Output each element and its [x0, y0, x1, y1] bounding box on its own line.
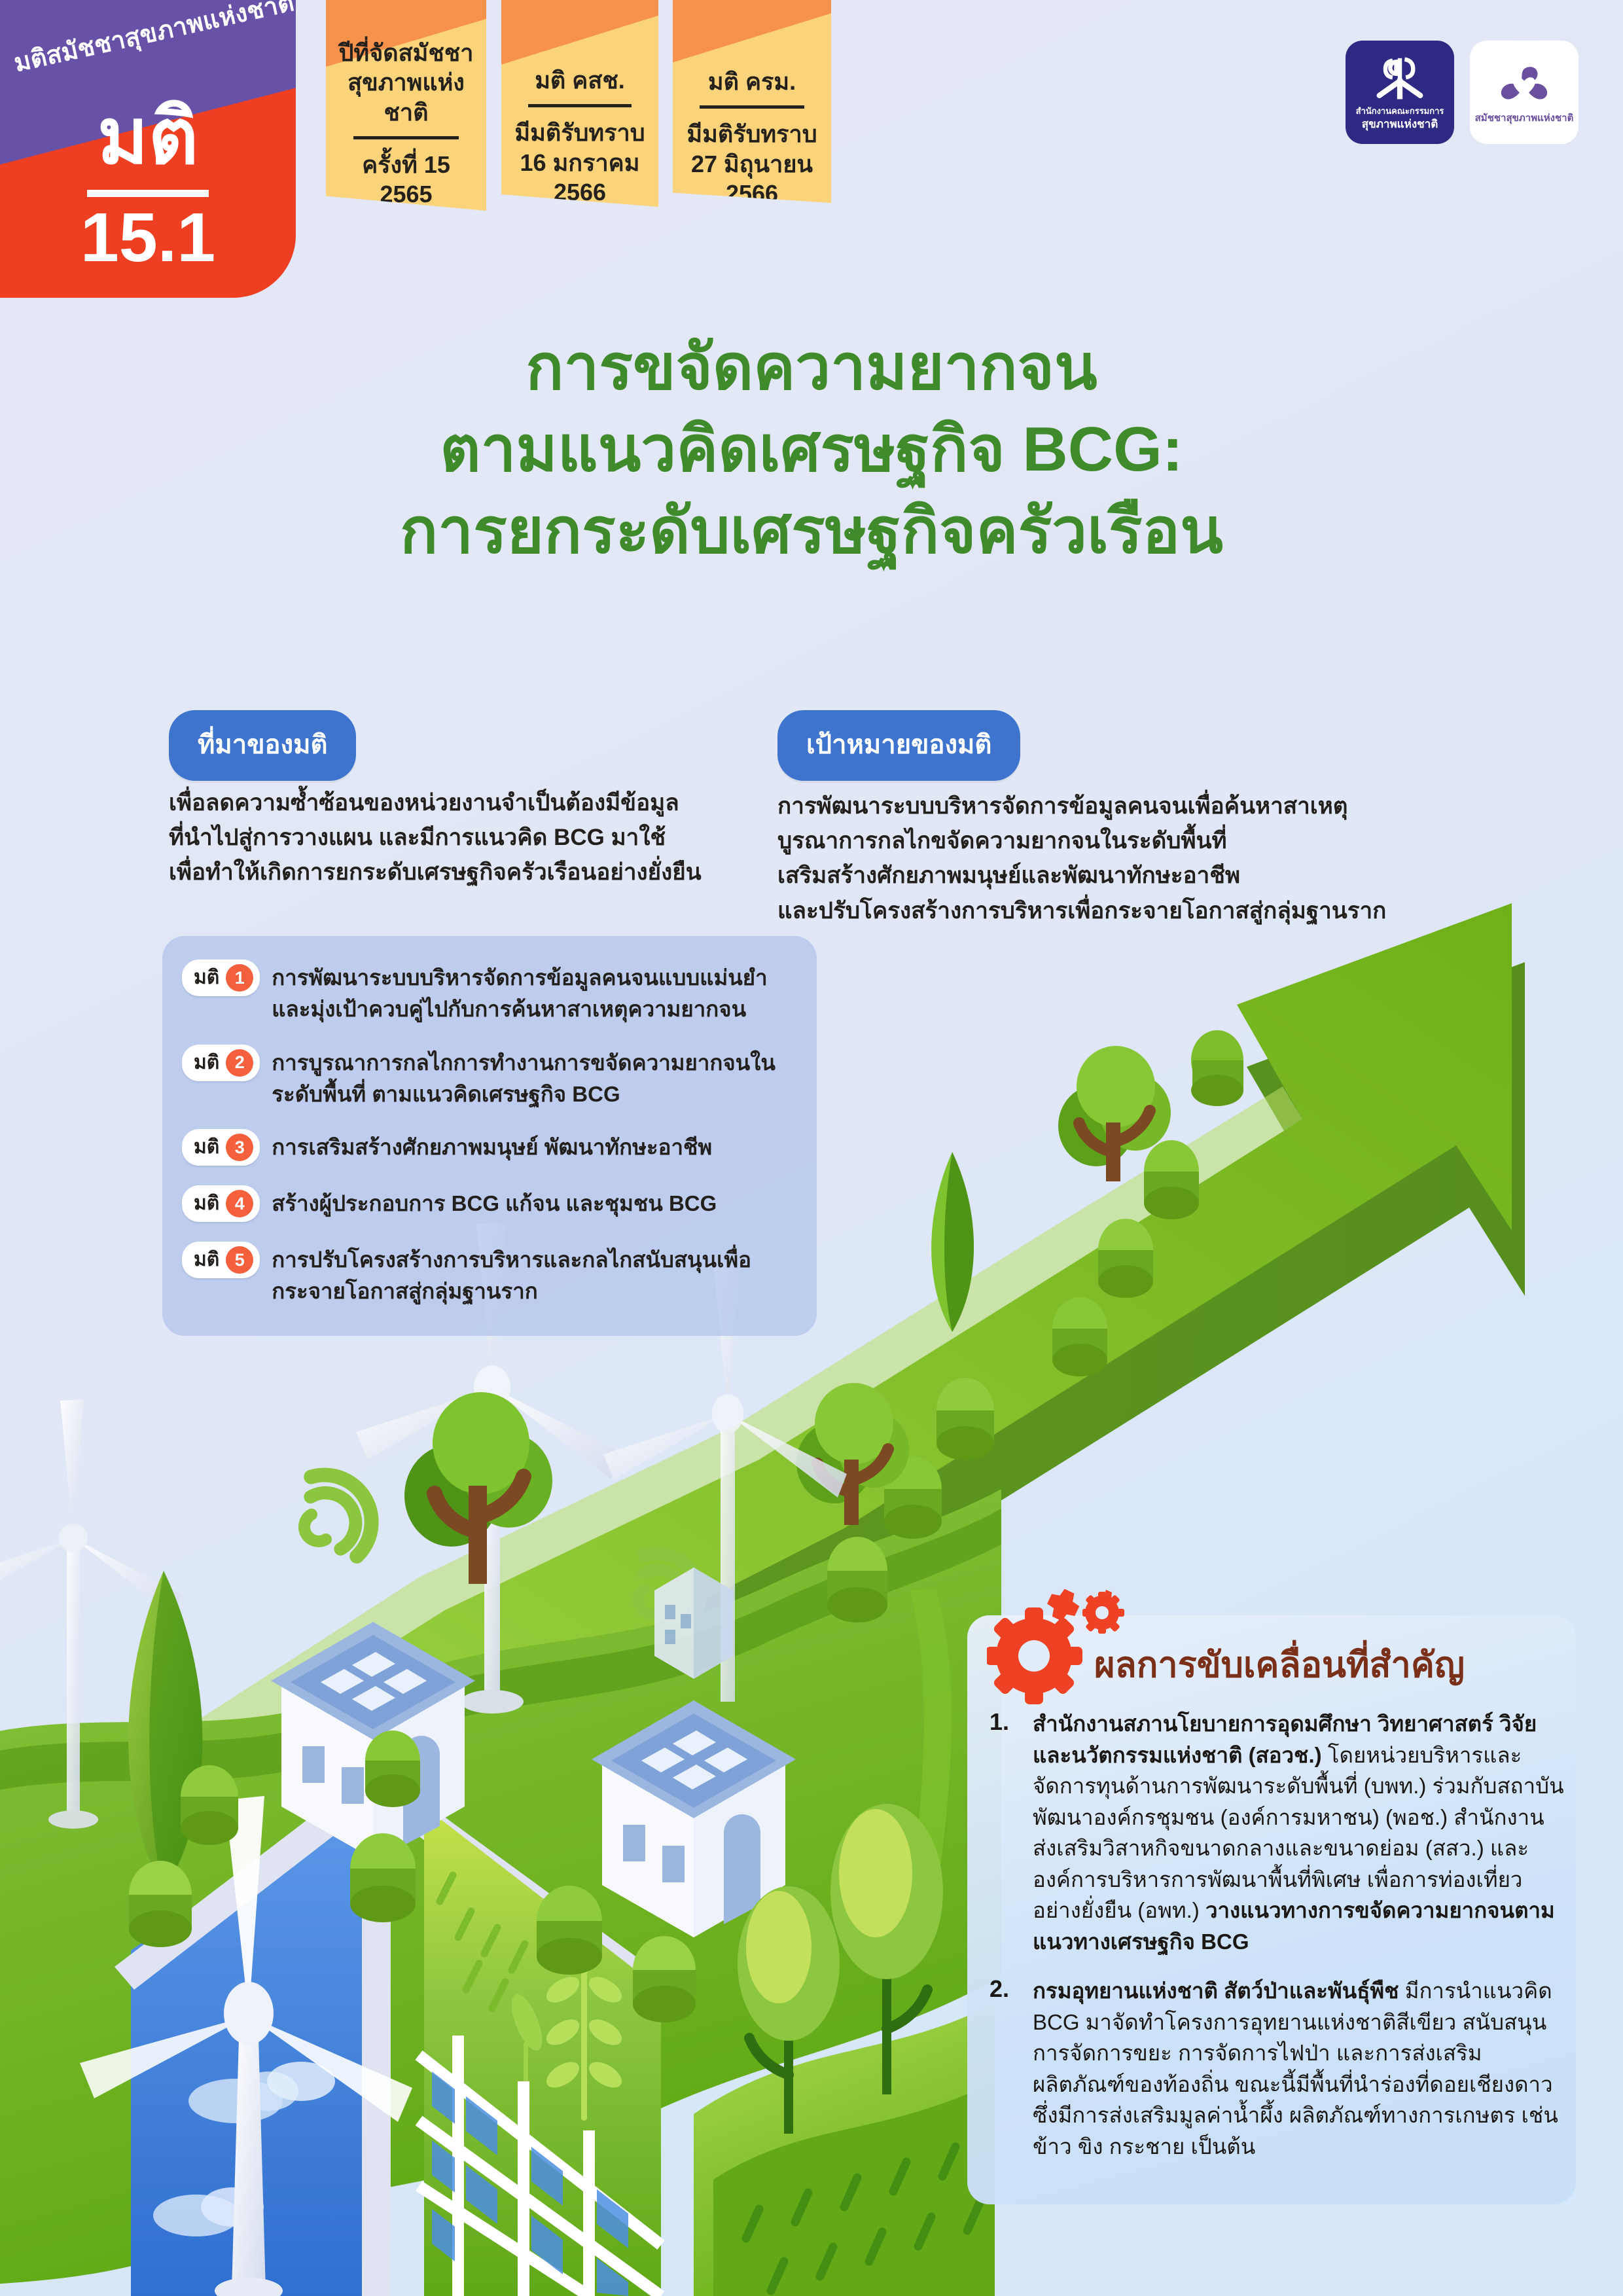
resolution-badge-label: มติ	[194, 968, 219, 988]
three-hands-heart-icon	[1494, 60, 1554, 111]
card-title-line1: มติ คสช.	[512, 65, 648, 95]
resolution-text: การพัฒนาระบบบริหารจัดการข้อมูลคนจนแบบแม่…	[272, 960, 794, 1025]
list-item: มติ 2 การบูรณาการกลไกการทำงานการขจัดความ…	[182, 1045, 794, 1110]
resolution-badge: มติ 1	[182, 960, 260, 996]
source-line-3: เพื่อทำให้เกิดการยกระดับเศรษฐกิจครัวเรือ…	[169, 855, 738, 889]
source-description: เพื่อลดความซ้ำซ้อนของหน่วยงานจำเป็นต้องม…	[169, 785, 738, 890]
meta-card-nhcb-resolution: มติ คสช. มีมติรับทราบ 16 มกราคม 2566	[501, 0, 658, 207]
card-title-line1: ปีที่จัดสมัชชา	[336, 38, 476, 67]
trees-on-arrow	[796, 1030, 1243, 1623]
result-number: 1.	[990, 1708, 1018, 1957]
foreground-trees	[128, 1392, 943, 2134]
card-title-line2: สุขภาพแห่งชาติ	[336, 67, 476, 127]
moti-corner-badge: มติสมัชชาสุขภาพแห่งชาติ มติ 15.1	[0, 0, 296, 298]
resolution-text: การปรับโครงสร้างการบริหารและกลไกสนับสนุน…	[272, 1242, 794, 1307]
goal-line-2: บูรณาการกลไกขจัดความยากจนในระดับพื้นที่	[777, 823, 1458, 858]
resolution-text: สร้างผู้ประกอบการ BCG แก้จน และชุมชน BCG	[272, 1185, 717, 1219]
logo-caption-line1: สมัชชาสุขภาพแห่งชาติ	[1475, 113, 1574, 124]
city-buildings	[654, 1568, 733, 1679]
village-hill	[0, 1489, 1001, 2296]
title-line-2: ตามแนวคิดเศรษฐกิจ BCG:	[0, 409, 1623, 491]
card-value-line2: 27 มิถุนายน 2566	[683, 149, 821, 209]
goal-line-3: เสริมสร้างศักยภาพมนุษย์และพัฒนาทักษะอาชี…	[777, 858, 1458, 893]
source-line-2: ที่นำไปสู่การวางแผน และมีการแนวคิด BCG ม…	[169, 820, 738, 855]
resolution-text: การบูรณาการกลไกการทำงานการขจัดความยากจนใ…	[272, 1045, 794, 1110]
result-text: สำนักงานสภานโยบายการอุดมศึกษา วิทยาศาสตร…	[1033, 1708, 1565, 1957]
results-heading: ผลการขับเคลื่อนที่สำคัญ	[1094, 1636, 1465, 1693]
logo-caption-line2: สุขภาพแห่งชาติ	[1362, 118, 1438, 131]
grass-hills-right	[694, 1590, 995, 2296]
card-divider	[528, 104, 632, 107]
goal-line-4: และปรับโครงสร้างการบริหารเพื่อกระจายโอกา…	[777, 893, 1458, 928]
resolution-list-panel: มติ 1 การพัฒนาระบบบริหารจัดการข้อมูลคนจน…	[162, 936, 817, 1336]
title-line-1: การขจัดความยากจน	[0, 327, 1623, 409]
resolution-badge-number: 1	[226, 964, 253, 992]
goal-line-1: การพัฒนาระบบบริหารจัดการข้อมูลคนจนเพื่อค…	[777, 789, 1458, 823]
solar-panel-icon	[419, 2036, 661, 2296]
resolution-badge-number: 2	[226, 1049, 253, 1077]
meta-card-cabinet-resolution: มติ ครม. มีมติรับทราบ 27 มิถุนายน 2566	[673, 0, 831, 203]
wifi-icon	[283, 1459, 715, 1643]
resolution-badge-label: มติ	[194, 1053, 219, 1073]
card-value-line1: ครั้งที่ 15	[336, 150, 476, 179]
resolution-badge-number: 3	[226, 1134, 253, 1161]
title-line-3: การยกระดับเศรษฐกิจครัวเรือน	[0, 491, 1623, 573]
card-divider	[700, 105, 804, 109]
card-value-line1: มีมติรับทราบ	[683, 119, 821, 149]
result-number: 2.	[990, 1975, 1018, 2162]
resolution-badge-label: มติ	[194, 1250, 219, 1270]
list-item: 2. กรมอุทยานแห่งชาติ สัตว์ป่าและพันธุ์พื…	[990, 1975, 1565, 2162]
resolution-badge-number: 4	[226, 1190, 253, 1217]
result-normal-mid: มีการนำแนวคิด BCG มาจัดทำโครงการอุทยานแห…	[1033, 1979, 1558, 2159]
card-value-line2: 16 มกราคม 2566	[512, 148, 648, 207]
section-heading-source: ที่มาของมติ	[169, 710, 356, 781]
logo-caption-line1: สำนักงานคณะกรรมการ	[1356, 107, 1444, 117]
nhco-mark-icon	[1370, 54, 1430, 105]
section-heading-goal: เป้าหมายของมติ	[777, 710, 1020, 781]
corner-moti-label: มติ	[0, 98, 296, 175]
resolution-badge: มติ 5	[182, 1242, 260, 1278]
list-item: มติ 4 สร้างผู้ประกอบการ BCG แก้จน และชุม…	[182, 1185, 794, 1222]
corner-divider	[87, 190, 209, 197]
logo-national-health-assembly: สมัชชาสุขภาพแห่งชาติ	[1470, 41, 1578, 144]
resolution-badge-label: มติ	[194, 1194, 219, 1213]
resolution-badge: มติ 3	[182, 1129, 260, 1166]
infographic-page: มติสมัชชาสุขภาพแห่งชาติ มติ 15.1 ปีที่จั…	[0, 0, 1623, 2296]
corner-moti-number: 15.1	[0, 203, 296, 272]
list-item: มติ 1 การพัฒนาระบบบริหารจัดการข้อมูลคนจน…	[182, 960, 794, 1025]
card-divider	[353, 136, 459, 139]
resolution-badge-number: 5	[226, 1246, 253, 1274]
card-value-line2: 2565	[336, 179, 476, 209]
wind-turbine-icon	[0, 1223, 847, 2296]
house-icon	[271, 1622, 796, 1937]
goal-description: การพัฒนาระบบบริหารจัดการข้อมูลคนจนเพื่อค…	[777, 789, 1458, 928]
resolution-badge: มติ 2	[182, 1045, 260, 1081]
resolution-badge-label: มติ	[194, 1138, 219, 1157]
list-item: มติ 3 การเสริมสร้างศักยภาพมนุษย์ พัฒนาทั…	[182, 1129, 794, 1166]
list-item: 1. สำนักงานสภานโยบายการอุดมศึกษา วิทยาศา…	[990, 1708, 1565, 1957]
result-normal-mid: โดยหน่วยบริหารและจัดการทุนด้านการพัฒนาระ…	[1033, 1743, 1564, 1923]
card-title-line1: มติ ครม.	[683, 67, 821, 96]
list-item: มติ 5 การปรับโครงสร้างการบริหารและกลไกสน…	[182, 1242, 794, 1307]
resolution-badge: มติ 4	[182, 1185, 260, 1222]
result-bold-lead: กรมอุทยานแห่งชาติ สัตว์ป่าและพันธุ์พืช	[1033, 1979, 1399, 2003]
meta-card-assembly-year: ปีที่จัดสมัชชา สุขภาพแห่งชาติ ครั้งที่ 1…	[326, 0, 486, 211]
resolution-text: การเสริมสร้างศักยภาพมนุษย์ พัฒนาทักษะอาช…	[272, 1129, 712, 1163]
card-value-line1: มีมติรับทราบ	[512, 118, 648, 147]
logo-national-health-commission-office: สำนักงานคณะกรรมการ สุขภาพแห่งชาติ	[1346, 41, 1454, 144]
organisation-logos: สำนักงานคณะกรรมการ สุขภาพแห่งชาติ สมัชชา…	[1346, 41, 1578, 144]
results-list: 1. สำนักงานสภานโยบายการอุดมศึกษา วิทยาศา…	[990, 1708, 1565, 2180]
result-text: กรมอุทยานแห่งชาติ สัตว์ป่าและพันธุ์พืช ม…	[1033, 1975, 1565, 2162]
page-title: การขจัดความยากจน ตามแนวคิดเศรษฐกิจ BCG: …	[0, 327, 1623, 572]
energy-panels	[115, 1767, 661, 2296]
source-line-1: เพื่อลดความซ้ำซ้อนของหน่วยงานจำเป็นต้องม…	[169, 785, 738, 820]
